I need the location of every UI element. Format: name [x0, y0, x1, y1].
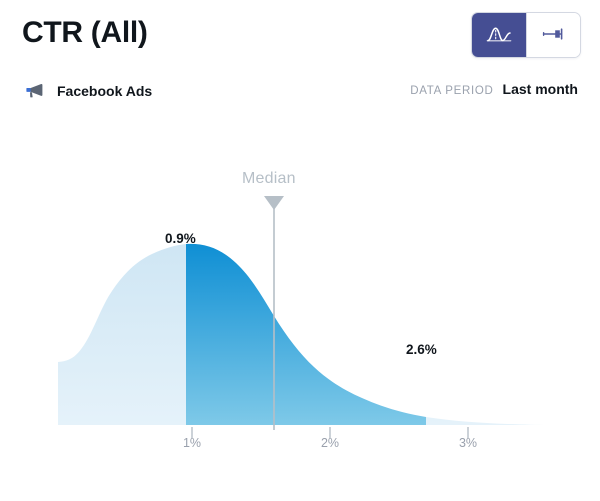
- x-tick-label-1: 1%: [183, 436, 201, 450]
- megaphone-icon: [24, 80, 46, 102]
- data-period-value[interactable]: Last month: [503, 81, 578, 97]
- card-header: CTR (All): [0, 0, 600, 70]
- toggle-distribution-view[interactable]: [472, 13, 526, 57]
- box-plot-icon: [541, 24, 567, 47]
- data-period[interactable]: DATA PERIOD Last month: [410, 81, 578, 97]
- page-title: CTR (All): [22, 14, 148, 52]
- upper-bound-label: 2.6%: [406, 342, 437, 357]
- median-marker-triangle: [264, 196, 284, 210]
- distribution-card: CTR (All): [0, 0, 600, 501]
- distribution-curve-icon: [486, 24, 512, 47]
- distribution-chart-svg: [0, 130, 600, 501]
- view-toggle-group[interactable]: [471, 12, 581, 58]
- median-label: Median: [242, 170, 296, 188]
- toggle-boxplot-view[interactable]: [526, 13, 580, 57]
- distribution-chart: Median 0.9% 2.6% 1% 2% 3%: [0, 130, 600, 501]
- card-subheader: Facebook Ads DATA PERIOD Last month: [0, 78, 600, 110]
- data-source: Facebook Ads: [24, 80, 152, 102]
- data-source-label: Facebook Ads: [57, 80, 152, 102]
- x-tick-label-2: 2%: [321, 436, 339, 450]
- data-period-caption: DATA PERIOD: [410, 85, 493, 97]
- x-tick-label-3: 3%: [459, 436, 477, 450]
- lower-bound-label: 0.9%: [165, 231, 196, 246]
